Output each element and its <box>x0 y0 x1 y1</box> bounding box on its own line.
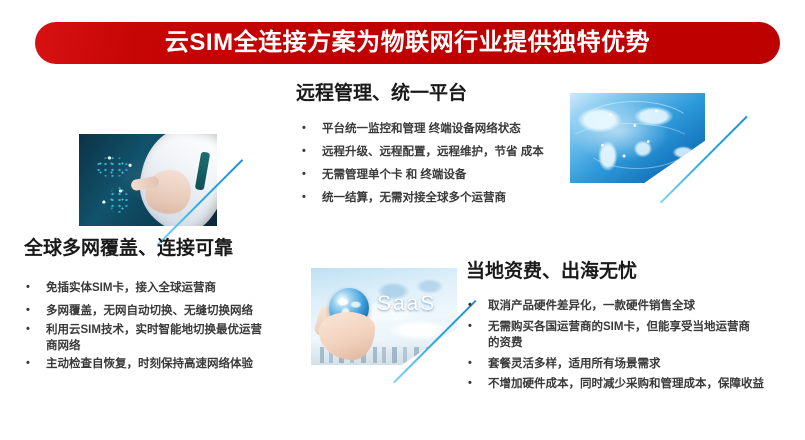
list-item: 平台统一监控和管理 终端设备网络状态 <box>300 122 590 138</box>
saas-caption: SaaS <box>377 292 436 316</box>
list-item-continuation: 商网络 <box>24 339 296 355</box>
list-item: 统一结算，无需对接全球多个运营商 <box>300 191 590 207</box>
globe-map-image <box>570 93 705 183</box>
heading-global-coverage: 全球多网覆盖、连接可靠 <box>24 239 233 260</box>
bullet-list-local-tariff: 取消产品硬件差异化，一款硬件销售全球 无需购买各国运营商的SIM卡，但能享受当地… <box>466 299 796 393</box>
network-nodes <box>570 93 705 183</box>
list-item: 远程升级、远程配置，远程维护，节省 成本 <box>300 145 590 161</box>
title-banner: 云SIM全连接方案为物联网行业提供独特优势 <box>35 22 780 64</box>
bullet-list-remote-management: 平台统一监控和管理 终端设备网络状态 远程升级、远程配置，远程维护，节省 成本 … <box>300 122 590 206</box>
list-item: 取消产品硬件差异化，一款硬件销售全球 <box>466 299 796 315</box>
page-title: 云SIM全连接方案为物联网行业提供独特优势 <box>165 31 650 55</box>
list-item: 无需管理单个卡 和 终端设备 <box>300 168 590 184</box>
list-item: 不增加硬件成本，同时减少采购和管理成本，保障收益 <box>466 377 796 393</box>
network-hand-image <box>79 134 217 226</box>
list-item: 免插实体SIM卡，接入全球运营商 <box>24 281 296 297</box>
saas-image: SaaS <box>311 268 457 365</box>
list-item: 利用云SIM技术，实时智能地切换最优运营 <box>24 323 296 339</box>
list-item-continuation: 的资费 <box>466 336 796 352</box>
bullet-list-global-coverage: 免插实体SIM卡，接入全球运营商 多网覆盖，无网自动切换、无缝切换网络 利用云S… <box>24 281 296 373</box>
heading-remote-management: 远程管理、统一平台 <box>296 84 467 105</box>
list-item: 套餐灵活多样，适用所有场景需求 <box>466 357 796 373</box>
list-item: 主动检查自恢复，时刻保持高速网络体验 <box>24 357 296 373</box>
list-item: 多网覆盖，无网自动切换、无缝切换网络 <box>24 304 296 320</box>
heading-local-tariff: 当地资费、出海无忧 <box>466 262 637 283</box>
list-item: 无需购买各国运营商的SIM卡，但能享受当地运营商 <box>466 320 796 336</box>
